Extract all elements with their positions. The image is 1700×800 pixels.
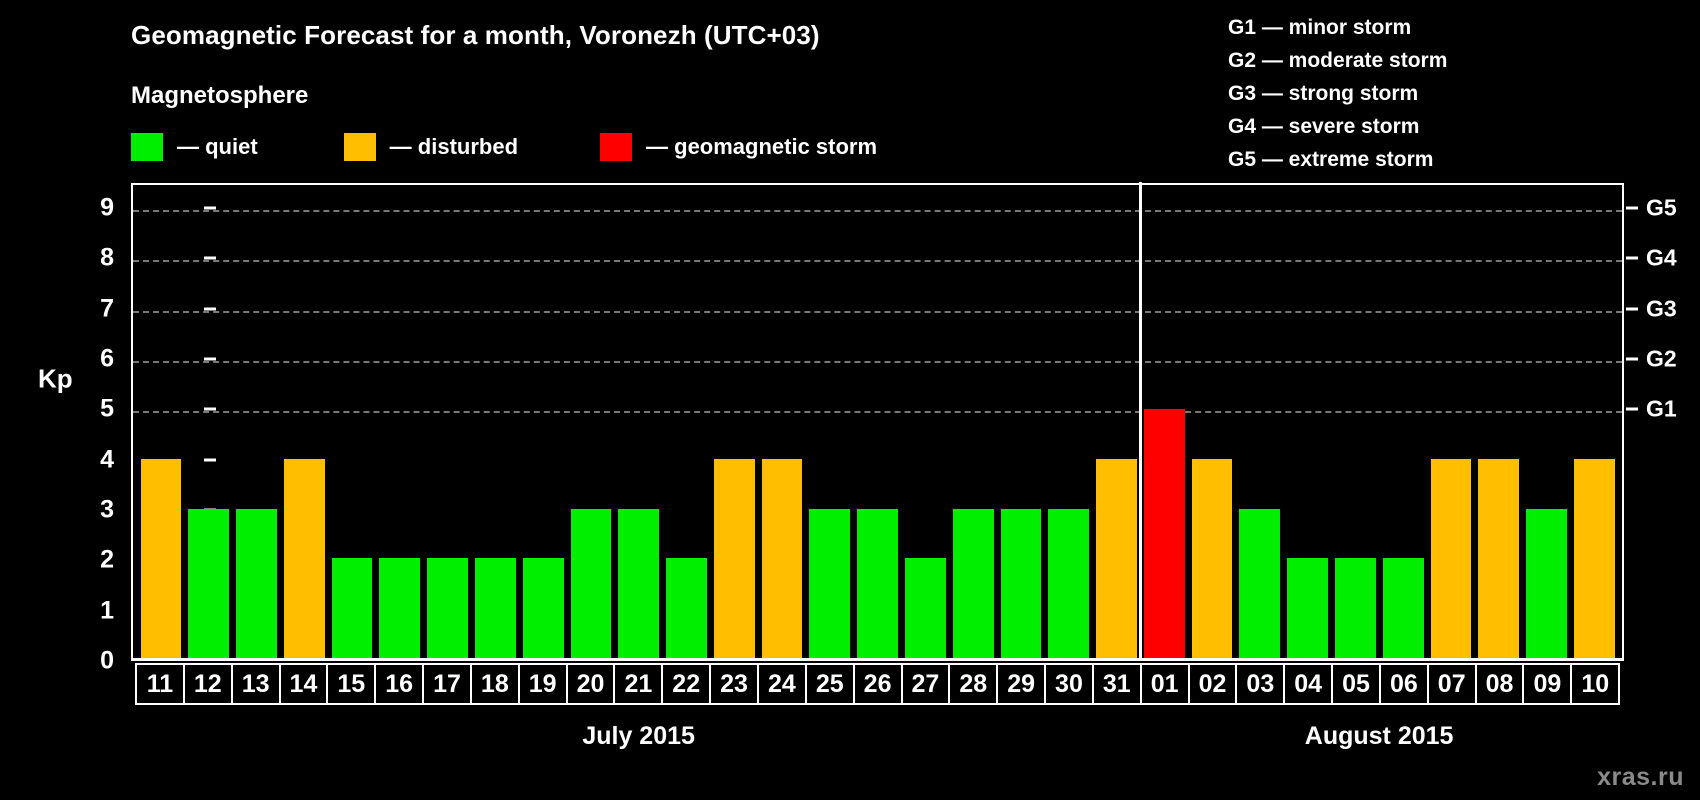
bar-day-17[interactable]	[427, 558, 468, 658]
g-tick-mark-G3	[1626, 307, 1638, 310]
day-label-cell-14[interactable]: 14	[279, 663, 329, 705]
day-label-cell-12[interactable]: 12	[183, 663, 233, 705]
bar-day-20[interactable]	[571, 509, 612, 658]
day-label-cell-20[interactable]: 20	[566, 663, 616, 705]
g-scale-row-5: G5 — extreme storm	[1228, 144, 1447, 176]
day-label-cell-19[interactable]: 19	[518, 663, 568, 705]
bar-slot	[376, 185, 424, 658]
day-label-text: 26	[864, 672, 892, 697]
bar-day-13[interactable]	[236, 509, 277, 658]
y-tick-label-8: 8	[100, 244, 114, 273]
g-tick-mark-G2	[1626, 358, 1638, 361]
g-axis: G1G2G3G4G5	[1626, 183, 1696, 661]
day-label-cell-10[interactable]: 10	[1570, 663, 1620, 705]
bar-day-15[interactable]	[332, 558, 373, 658]
day-label-cell-22[interactable]: 22	[661, 663, 711, 705]
bar-day-27[interactable]	[905, 558, 946, 658]
bar-day-14[interactable]	[284, 459, 325, 658]
day-label-cell-08[interactable]: 08	[1475, 663, 1525, 705]
bar-slot	[1045, 185, 1093, 658]
day-label-cell-15[interactable]: 15	[326, 663, 376, 705]
day-label-text: 28	[959, 672, 987, 697]
day-label-text: 16	[385, 672, 413, 697]
bar-day-22[interactable]	[666, 558, 707, 658]
bar-day-04[interactable]	[1287, 558, 1328, 658]
bar-day-10[interactable]	[1574, 459, 1615, 658]
day-label-text: 01	[1151, 672, 1179, 697]
bar-slot	[280, 185, 328, 658]
day-label-cell-18[interactable]: 18	[470, 663, 520, 705]
magnetosphere-label: Magnetosphere	[131, 82, 308, 110]
bar-slot	[1570, 185, 1618, 658]
day-label-text: 21	[624, 672, 652, 697]
bar-day-07[interactable]	[1431, 459, 1472, 658]
day-label-text: 25	[816, 672, 844, 697]
bar-slot	[1236, 185, 1284, 658]
bar-slot	[137, 185, 185, 658]
day-labels-row: 1112131415161718192021222324252627282930…	[131, 663, 1624, 705]
g-scale-row-3: G3 — strong storm	[1228, 78, 1447, 110]
day-label-cell-29[interactable]: 29	[996, 663, 1046, 705]
day-label-text: 13	[242, 672, 270, 697]
day-label-cell-23[interactable]: 23	[709, 663, 759, 705]
legend-swatch-storm-icon	[600, 133, 632, 161]
day-label-cell-21[interactable]: 21	[613, 663, 663, 705]
day-label-text: 20	[577, 672, 605, 697]
g-scale-row-1: G1 — minor storm	[1228, 12, 1447, 44]
day-label-text: 11	[147, 672, 173, 697]
bar-slot	[902, 185, 950, 658]
y-tick-label-9: 9	[100, 194, 114, 223]
bar-day-23[interactable]	[714, 459, 755, 658]
watermark: xras.ru	[1597, 763, 1684, 792]
day-label-text: 31	[1103, 672, 1131, 697]
day-label-text: 10	[1581, 672, 1609, 697]
bars-container	[133, 185, 1622, 658]
bar-day-16[interactable]	[379, 558, 420, 658]
plot-area	[131, 183, 1624, 661]
day-label-cell-01[interactable]: 01	[1140, 663, 1190, 705]
day-label-cell-05[interactable]: 05	[1331, 663, 1381, 705]
bar-day-28[interactable]	[953, 509, 994, 658]
g-scale-legend: G1 — minor stormG2 — moderate stormG3 — …	[1228, 12, 1447, 176]
g-tick-label-G4: G4	[1646, 245, 1677, 272]
bar-slot	[471, 185, 519, 658]
y-tick-label-5: 5	[100, 395, 114, 424]
day-label-cell-07[interactable]: 07	[1427, 663, 1477, 705]
day-label-cell-02[interactable]: 02	[1188, 663, 1238, 705]
legend-swatch-quiet-icon	[131, 133, 163, 161]
y-tick-label-0: 0	[100, 647, 114, 676]
bar-slot	[806, 185, 854, 658]
day-label-text: 07	[1438, 672, 1466, 697]
bar-slot	[758, 185, 806, 658]
color-legend: — quiet — disturbed — geomagnetic storm	[131, 133, 877, 161]
bar-slot	[567, 185, 615, 658]
g-tick-label-G1: G1	[1646, 396, 1677, 423]
g-scale-row-2: G2 — moderate storm	[1228, 45, 1447, 77]
legend-label-storm: — geomagnetic storm	[646, 134, 877, 160]
bar-slot	[1523, 185, 1571, 658]
g-tick-label-G2: G2	[1646, 346, 1677, 373]
day-label-cell-31[interactable]: 31	[1092, 663, 1142, 705]
y-axis: 0123456789	[78, 183, 124, 661]
bar-day-06[interactable]	[1383, 558, 1424, 658]
day-label-text: 09	[1533, 672, 1561, 697]
day-label-text: 17	[433, 672, 461, 697]
bar-slot	[519, 185, 567, 658]
day-label-cell-03[interactable]: 03	[1235, 663, 1285, 705]
page-title: Geomagnetic Forecast for a month, Vorone…	[131, 20, 820, 51]
bar-day-03[interactable]	[1239, 509, 1280, 658]
bar-day-01[interactable]	[1144, 409, 1185, 658]
bar-day-21[interactable]	[618, 509, 659, 658]
g-tick-label-G3: G3	[1646, 295, 1677, 322]
day-label-text: 06	[1390, 672, 1418, 697]
day-label-cell-27[interactable]: 27	[901, 663, 951, 705]
bar-slot	[233, 185, 281, 658]
day-label-text: 23	[720, 672, 748, 697]
g-tick-mark-G4	[1626, 257, 1638, 260]
y-tick-label-1: 1	[100, 596, 114, 625]
day-label-cell-30[interactable]: 30	[1044, 663, 1094, 705]
day-label-text: 15	[337, 672, 365, 697]
bar-slot	[1379, 185, 1427, 658]
bar-day-18[interactable]	[475, 558, 516, 658]
bar-slot	[424, 185, 472, 658]
day-label-text: 05	[1342, 672, 1370, 697]
day-label-text: 18	[481, 672, 509, 697]
y-tick-label-7: 7	[100, 294, 114, 323]
day-label-text: 04	[1294, 672, 1322, 697]
bar-day-09[interactable]	[1526, 509, 1567, 658]
g-scale-row-4: G4 — severe storm	[1228, 111, 1447, 143]
legend-item-disturbed: — disturbed	[344, 133, 518, 161]
bar-day-19[interactable]	[523, 558, 564, 658]
day-label-cell-24[interactable]: 24	[757, 663, 807, 705]
bar-slot	[1140, 185, 1188, 658]
day-label-text: 12	[194, 672, 222, 697]
bar-day-02[interactable]	[1192, 459, 1233, 658]
bar-slot	[1284, 185, 1332, 658]
day-label-cell-04[interactable]: 04	[1283, 663, 1333, 705]
day-label-cell-11[interactable]: 11	[135, 663, 185, 705]
bar-day-11[interactable]	[141, 459, 182, 658]
day-label-cell-09[interactable]: 09	[1522, 663, 1572, 705]
bar-slot	[710, 185, 758, 658]
y-axis-title: Kp	[38, 364, 73, 395]
legend-label-disturbed: — disturbed	[390, 134, 518, 160]
bar-slot	[1427, 185, 1475, 658]
bar-day-08[interactable]	[1478, 459, 1519, 658]
bar-slot	[663, 185, 711, 658]
day-label-text: 30	[1055, 672, 1083, 697]
day-label-text: 02	[1199, 672, 1227, 697]
g-tick-label-G5: G5	[1646, 195, 1677, 222]
day-label-text: 03	[1246, 672, 1274, 697]
bar-slot	[1475, 185, 1523, 658]
bar-day-12[interactable]	[188, 509, 229, 658]
day-label-text: 24	[768, 672, 796, 697]
bar-day-31[interactable]	[1096, 459, 1137, 658]
day-label-cell-25[interactable]: 25	[805, 663, 855, 705]
g-tick-mark-G5	[1626, 207, 1638, 210]
y-tick-label-2: 2	[100, 546, 114, 575]
y-tick-label-6: 6	[100, 345, 114, 374]
day-label-text: 19	[529, 672, 557, 697]
month-caption-1: July 2015	[582, 722, 695, 751]
day-label-cell-28[interactable]: 28	[948, 663, 998, 705]
bar-slot	[328, 185, 376, 658]
bar-day-24[interactable]	[762, 459, 803, 658]
bar-day-29[interactable]	[1001, 509, 1042, 658]
bar-slot	[1188, 185, 1236, 658]
bar-day-25[interactable]	[809, 509, 850, 658]
bar-day-26[interactable]	[857, 509, 898, 658]
bar-day-05[interactable]	[1335, 558, 1376, 658]
bar-day-30[interactable]	[1048, 509, 1089, 658]
bar-slot	[1332, 185, 1380, 658]
legend-swatch-disturbed-icon	[344, 133, 376, 161]
legend-label-quiet: — quiet	[177, 134, 258, 160]
day-label-text: 14	[290, 672, 318, 697]
y-tick-label-3: 3	[100, 496, 114, 525]
day-label-text: 22	[672, 672, 700, 697]
day-label-cell-16[interactable]: 16	[374, 663, 424, 705]
legend-item-quiet: — quiet	[131, 133, 258, 161]
month-divider-line	[1139, 182, 1142, 660]
g-tick-mark-G1	[1626, 408, 1638, 411]
day-label-text: 27	[912, 672, 940, 697]
day-label-cell-13[interactable]: 13	[231, 663, 281, 705]
day-label-text: 08	[1486, 672, 1514, 697]
legend-item-storm: — geomagnetic storm	[600, 133, 877, 161]
day-label-cell-06[interactable]: 06	[1379, 663, 1429, 705]
bar-slot	[615, 185, 663, 658]
bar-slot	[997, 185, 1045, 658]
y-tick-label-4: 4	[100, 445, 114, 474]
bar-slot	[185, 185, 233, 658]
bar-slot	[854, 185, 902, 658]
month-caption-2: August 2015	[1305, 722, 1454, 751]
day-label-cell-17[interactable]: 17	[422, 663, 472, 705]
day-label-text: 29	[1007, 672, 1035, 697]
bar-slot	[1093, 185, 1141, 658]
bar-slot	[949, 185, 997, 658]
day-label-cell-26[interactable]: 26	[853, 663, 903, 705]
